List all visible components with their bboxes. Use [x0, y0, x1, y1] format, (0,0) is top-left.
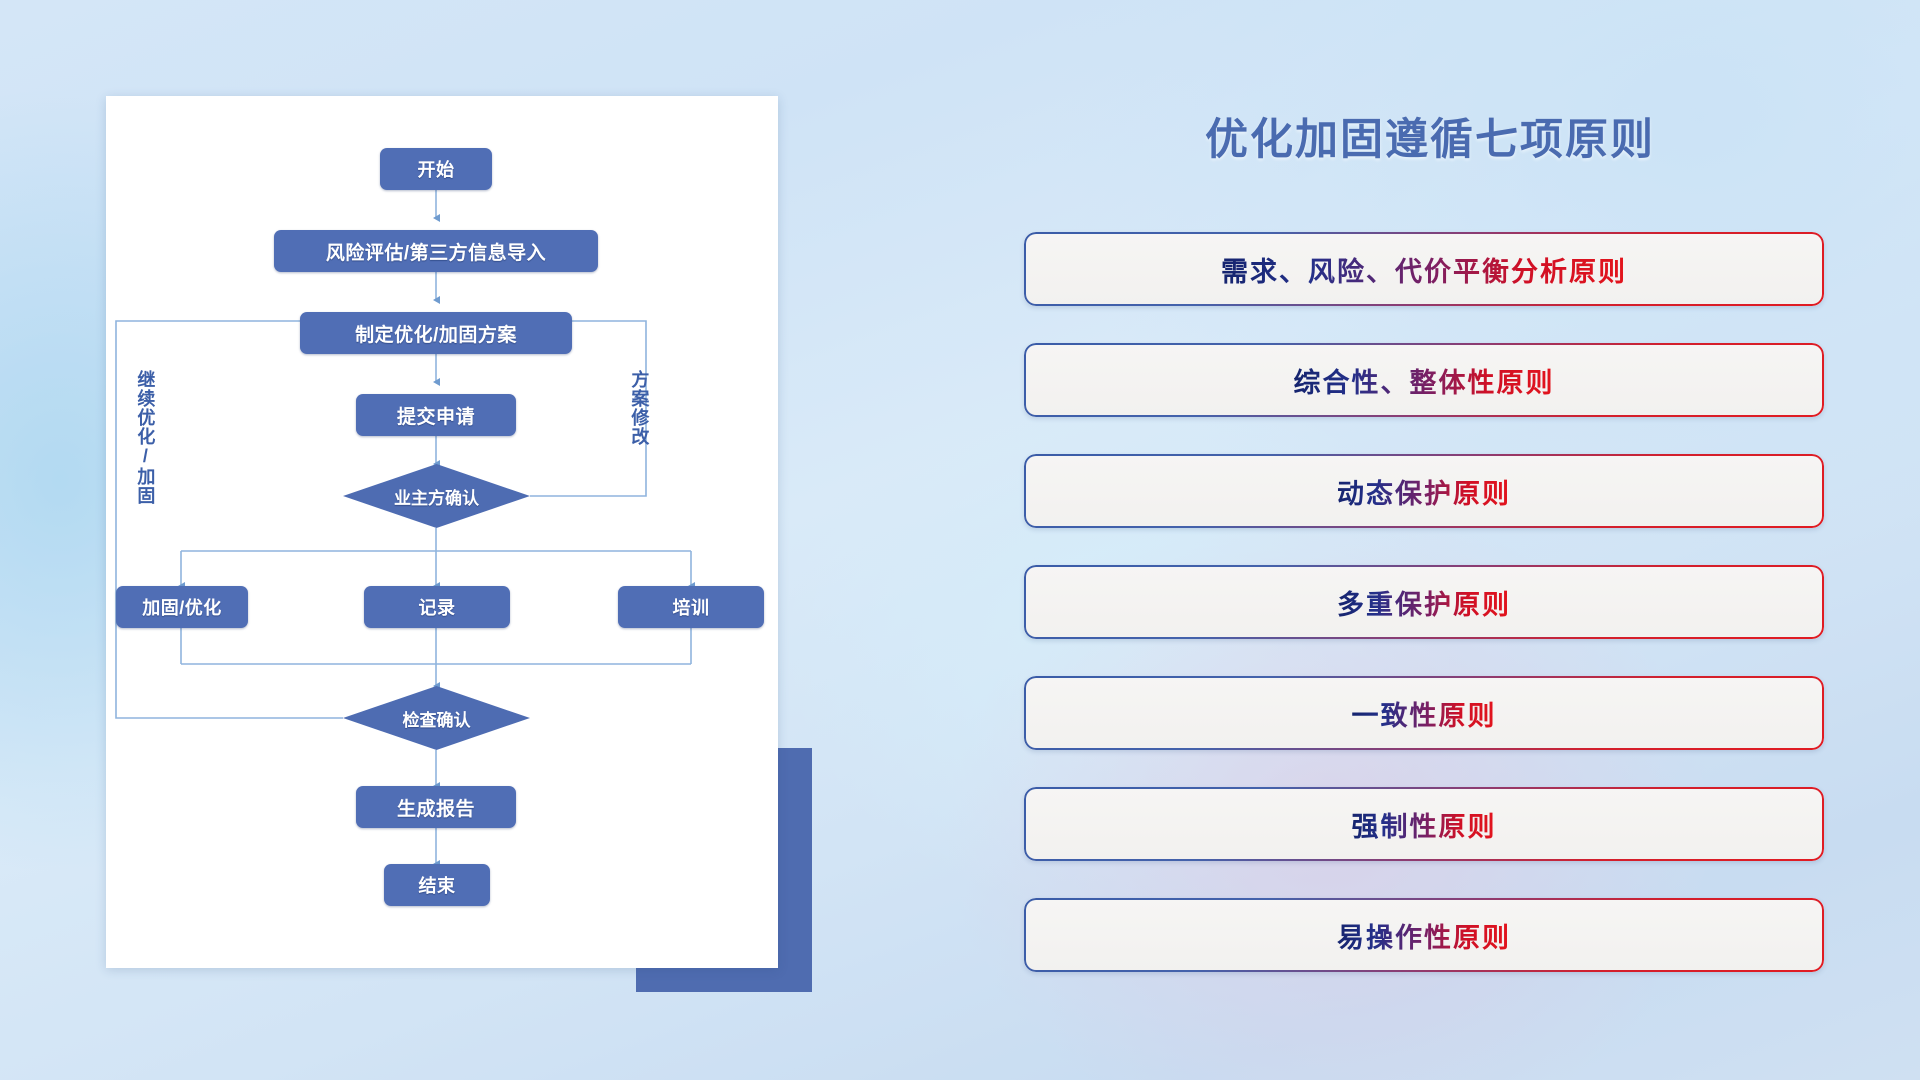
slide-canvas: 开始 风险评估/第三方信息导入 制定优化/加固方案 提交申请 业主方确认 加固/… — [0, 0, 1920, 1080]
flow-node-submit-application[interactable]: 提交申请 — [356, 394, 516, 436]
flow-node-generate-report[interactable]: 生成报告 — [356, 786, 516, 828]
principle-item-1[interactable]: 需求、风险、代价平衡分析原则 — [1024, 232, 1824, 306]
flow-node-check-confirmation[interactable]: 检查确认 — [343, 686, 530, 750]
flow-node-label: 业主方确认 — [394, 484, 479, 509]
flow-node-risk-assessment[interactable]: 风险评估/第三方信息导入 — [274, 230, 598, 272]
principle-label: 一致性原则 — [1352, 694, 1497, 733]
flow-node-label: 风险评估/第三方信息导入 — [326, 238, 546, 265]
edge-label-continue-optimize: 继续优化/加固 — [136, 370, 154, 505]
principle-item-3[interactable]: 动态保护原则 — [1024, 454, 1824, 528]
flow-node-label: 制定优化/加固方案 — [355, 320, 517, 347]
flow-node-plan[interactable]: 制定优化/加固方案 — [300, 312, 572, 354]
flow-node-label: 加固/优化 — [142, 594, 222, 620]
flow-node-label: 生成报告 — [397, 794, 475, 821]
principles-title: 优化加固遵循七项原则 — [1020, 105, 1840, 167]
principle-item-4[interactable]: 多重保护原则 — [1024, 565, 1824, 639]
principle-label: 动态保护原则 — [1337, 472, 1511, 511]
edge-label-plan-revision: 方案修改 — [630, 370, 648, 446]
principle-item-7[interactable]: 易操作性原则 — [1024, 898, 1824, 972]
principles-list: 需求、风险、代价平衡分析原则 综合性、整体性原则 动态保护原则 多重保护原则 一… — [1024, 232, 1824, 1009]
principle-item-5[interactable]: 一致性原则 — [1024, 676, 1824, 750]
principle-label: 需求、风险、代价平衡分析原则 — [1221, 250, 1627, 289]
flow-node-label: 检查确认 — [403, 706, 471, 731]
principle-label: 多重保护原则 — [1337, 583, 1511, 622]
flowchart-card: 开始 风险评估/第三方信息导入 制定优化/加固方案 提交申请 业主方确认 加固/… — [106, 96, 778, 968]
principle-label: 易操作性原则 — [1337, 916, 1511, 955]
flow-node-label: 开始 — [418, 156, 455, 182]
principle-item-2[interactable]: 综合性、整体性原则 — [1024, 343, 1824, 417]
flow-node-label: 结束 — [419, 872, 456, 898]
principle-item-6[interactable]: 强制性原则 — [1024, 787, 1824, 861]
flow-node-start[interactable]: 开始 — [380, 148, 492, 190]
flow-node-training[interactable]: 培训 — [618, 586, 764, 628]
flow-node-label: 记录 — [419, 594, 456, 620]
flow-node-reinforce-optimize[interactable]: 加固/优化 — [116, 586, 248, 628]
flow-node-owner-confirmation[interactable]: 业主方确认 — [343, 464, 530, 528]
flowchart-connectors — [106, 96, 778, 968]
flow-node-record[interactable]: 记录 — [364, 586, 510, 628]
principle-label: 强制性原则 — [1352, 805, 1497, 844]
flow-node-label: 提交申请 — [397, 402, 475, 429]
principle-label: 综合性、整体性原则 — [1294, 361, 1555, 400]
flow-node-end[interactable]: 结束 — [384, 864, 490, 906]
flow-node-label: 培训 — [673, 594, 710, 620]
